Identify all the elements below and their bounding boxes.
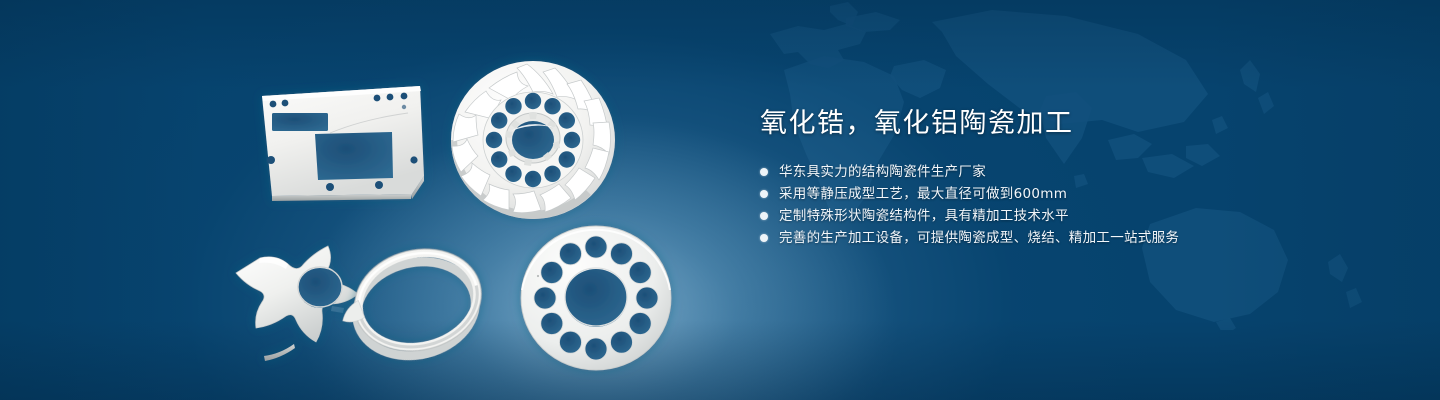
bullet-dot-icon [760, 190, 768, 198]
feature-text: 华东具实力的结构陶瓷件生产厂家 [779, 161, 986, 183]
ceramic-mounting-plate [262, 86, 424, 201]
ceramic-products-group [0, 0, 720, 400]
feature-text: 采用等静压成型工艺，最大直径可做到600mm [779, 183, 1067, 205]
ceramic-hole-ring-disc [521, 226, 671, 370]
list-item: 华东具实力的结构陶瓷件生产厂家 [760, 161, 1360, 183]
ceramic-seal-ring [330, 236, 493, 371]
bullet-dot-icon [760, 168, 768, 176]
page-title: 氧化锆，氧化铝陶瓷加工 [760, 108, 1360, 140]
bullet-dot-icon [760, 234, 768, 242]
bullet-dot-icon [760, 212, 768, 220]
list-item: 定制特殊形状陶瓷结构件，具有精加工技术水平 [760, 205, 1360, 227]
list-item: 采用等静压成型工艺，最大直径可做到600mm [760, 183, 1360, 205]
list-item: 完善的生产加工设备，可提供陶瓷成型、烧结、精加工一站式服务 [760, 227, 1360, 249]
feature-text: 定制特殊形状陶瓷结构件，具有精加工技术水平 [779, 205, 1069, 227]
ceramic-impeller-disc [451, 61, 615, 219]
feature-text: 完善的生产加工设备，可提供陶瓷成型、烧结、精加工一站式服务 [779, 227, 1179, 249]
ceramic-machining-banner: 氧化锆，氧化铝陶瓷加工 华东具实力的结构陶瓷件生产厂家 采用等静压成型工艺，最大… [0, 0, 1440, 400]
feature-list: 华东具实力的结构陶瓷件生产厂家 采用等静压成型工艺，最大直径可做到600mm 定… [760, 161, 1360, 249]
banner-text-block: 氧化锆，氧化铝陶瓷加工 华东具实力的结构陶瓷件生产厂家 采用等静压成型工艺，最大… [760, 108, 1360, 249]
ceramic-cross-vane-plate [236, 246, 358, 361]
